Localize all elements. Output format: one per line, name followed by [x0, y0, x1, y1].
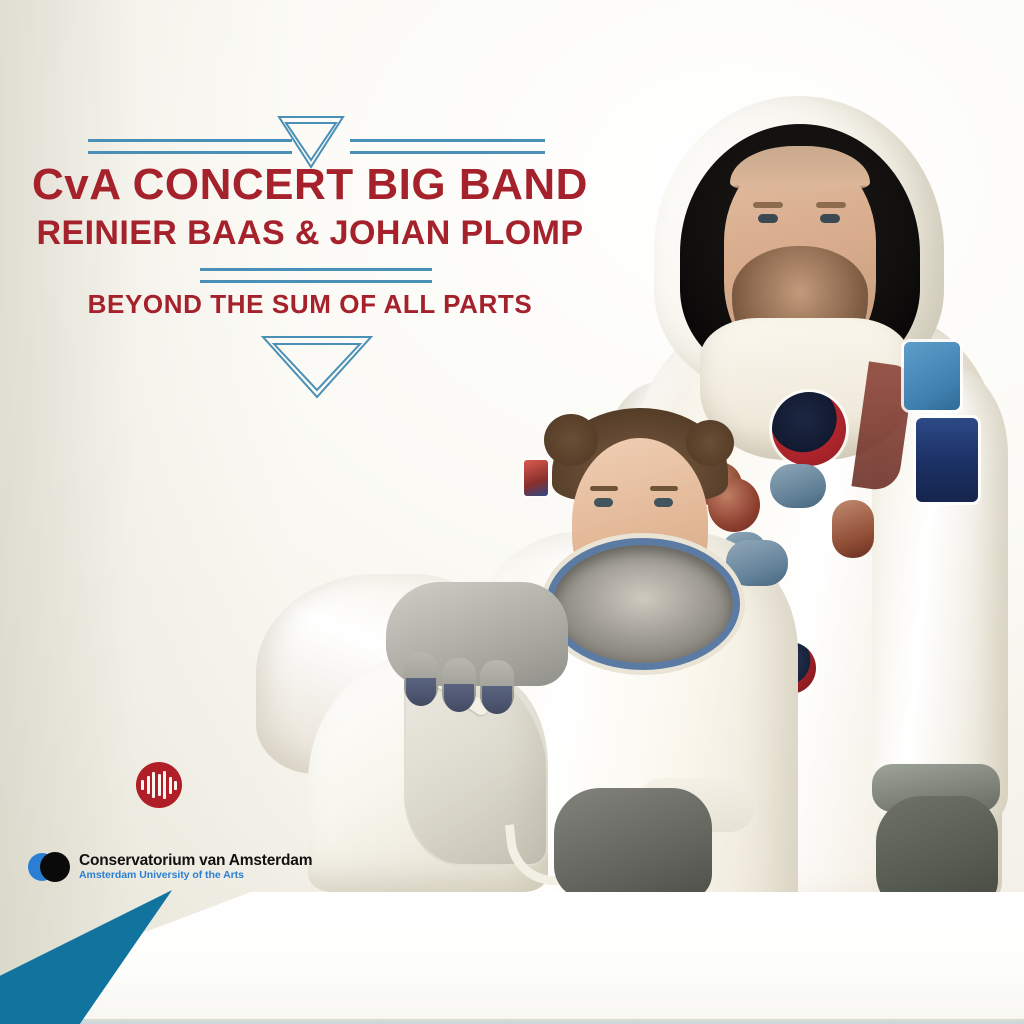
double-rule-top-right [350, 139, 545, 154]
waveform-bar-5 [163, 771, 166, 799]
album-cover: CvA CONCERT BIG BAND REINIER BAAS & JOHA… [0, 0, 1024, 1024]
logo-institution-name: Conservatorium van Amsterdam [79, 853, 312, 869]
waveform-bar-6 [169, 777, 172, 794]
graphic-overlay: CvA CONCERT BIG BAND REINIER BAAS & JOHA… [0, 0, 1024, 1024]
double-rule-middle [200, 268, 432, 283]
logo-text-block: Conservatorium van Amsterdam Amsterdam U… [79, 853, 312, 881]
waveform-bar-4 [158, 774, 161, 796]
blue-corner-wedge [0, 890, 420, 1024]
album-title: BEYOND THE SUM OF ALL PARTS [0, 288, 620, 320]
logo-circle-black [40, 852, 70, 882]
double-rule-top-left [88, 139, 292, 154]
audio-waveform-icon [136, 762, 182, 808]
waveform-bar-2 [147, 776, 150, 794]
cva-circles-icon [28, 851, 70, 883]
conservatorium-logo: Conservatorium van Amsterdam Amsterdam U… [28, 846, 328, 888]
page-title: CvA CONCERT BIG BAND [0, 160, 620, 210]
waveform-bar-1 [141, 780, 144, 790]
waveform-bar-3 [152, 772, 155, 798]
artist-names: REINIER BAAS & JOHAN PLOMP [0, 212, 620, 254]
title-block: CvA CONCERT BIG BAND REINIER BAAS & JOHA… [0, 160, 620, 254]
down-triangle-bottom-icon [262, 336, 372, 398]
waveform-bar-7 [174, 781, 177, 790]
logo-university-name: Amsterdam University of the Arts [79, 870, 312, 881]
